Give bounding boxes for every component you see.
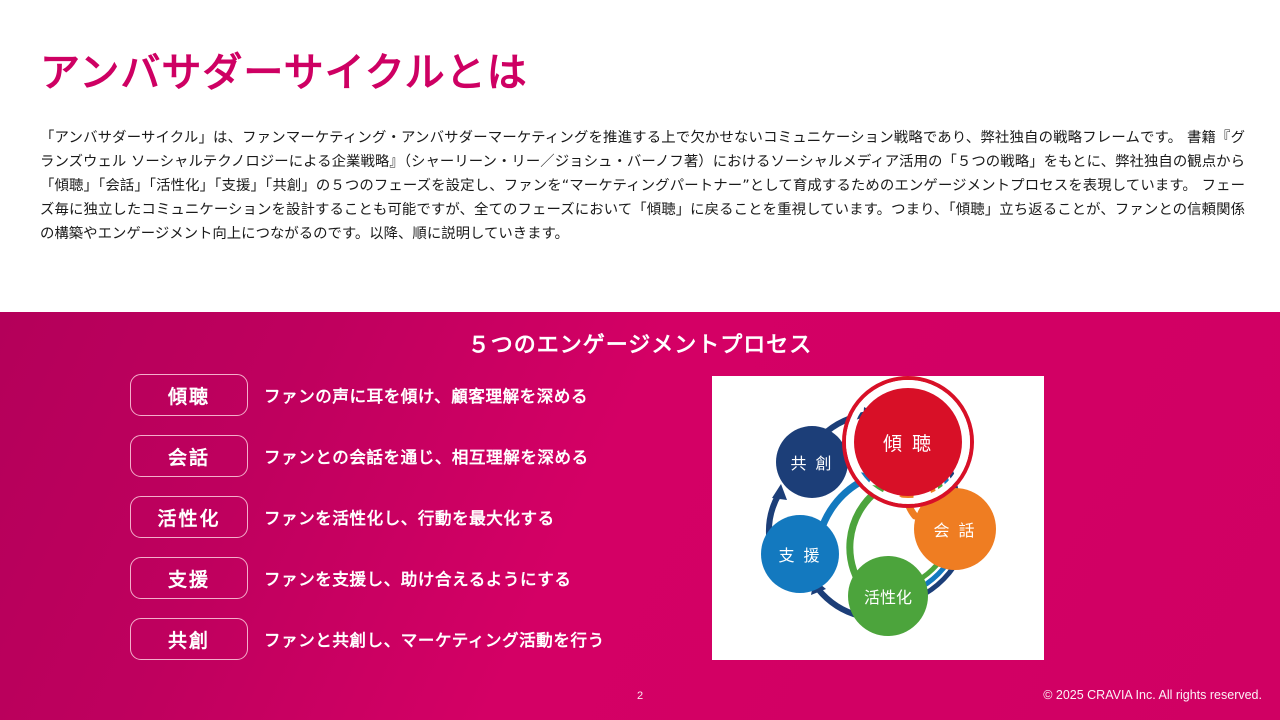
phase-chip-shien[interactable]: 支援 xyxy=(130,557,248,599)
cycle-node-shien: 支 援 xyxy=(761,515,839,593)
svg-text:会 話: 会 話 xyxy=(933,521,976,540)
phase-list: 傾聴 ファンの声に耳を傾け、顧客理解を深める 会話 ファンとの会話を通じ、相互理… xyxy=(130,374,690,679)
phase-description-shien: ファンを支援し、助け合えるようにする xyxy=(264,566,571,590)
svg-text:支 援: 支 援 xyxy=(778,546,821,565)
phase-chip-kyoso[interactable]: 共創 xyxy=(130,618,248,660)
engagement-panel: ５つのエンゲージメントプロセス 傾聴 ファンの声に耳を傾け、顧客理解を深める 会… xyxy=(0,312,1280,720)
svg-text:傾 聴: 傾 聴 xyxy=(883,433,933,455)
phase-chip-kasseika[interactable]: 活性化 xyxy=(130,496,248,538)
list-item[interactable]: 支援 ファンを支援し、助け合えるようにする xyxy=(130,557,690,618)
page-title: アンバサダーサイクルとは xyxy=(40,50,528,96)
phase-chip-keicho[interactable]: 傾聴 xyxy=(130,374,248,416)
svg-text:共 創: 共 創 xyxy=(790,454,833,473)
slide-root: アンバサダーサイクルとは 「アンバサダーサイクル」は、ファンマーケティング・アン… xyxy=(0,0,1280,720)
cycle-node-kasseika: 活性化 xyxy=(848,556,928,636)
cycle-node-keicho: 傾 聴 xyxy=(844,378,972,506)
phase-description-kaiwa: ファンとの会話を通じ、相互理解を深める xyxy=(264,444,589,468)
body-paragraph-text: 「アンバサダーサイクル」は、ファンマーケティング・アンバサダーマーケティングを推… xyxy=(40,126,1245,246)
list-item[interactable]: 共創 ファンと共創し、マーケティング活動を行う xyxy=(130,618,690,679)
panel-heading: ５つのエンゲージメントプロセス xyxy=(0,327,1280,359)
svg-text:活性化: 活性化 xyxy=(864,588,912,607)
phase-description-keicho: ファンの声に耳を傾け、顧客理解を深める xyxy=(264,383,588,407)
phase-description-kyoso: ファンと共創し、マーケティング活動を行う xyxy=(264,627,605,651)
phase-description-kasseika: ファンを活性化し、行動を最大化する xyxy=(264,505,555,529)
cycle-node-kyoso: 共 創 xyxy=(776,426,848,498)
ambassador-cycle-diagram: 共 創 支 援 活性化 会 話 xyxy=(712,376,1044,660)
list-item[interactable]: 傾聴 ファンの声に耳を傾け、顧客理解を深める xyxy=(130,374,690,435)
phase-chip-kaiwa[interactable]: 会話 xyxy=(130,435,248,477)
body-paragraph: 「アンバサダーサイクル」は、ファンマーケティング・アンバサダーマーケティングを推… xyxy=(40,126,1245,246)
list-item[interactable]: 会話 ファンとの会話を通じ、相互理解を深める xyxy=(130,435,690,496)
list-item[interactable]: 活性化 ファンを活性化し、行動を最大化する xyxy=(130,496,690,557)
copyright-notice: © 2025 CRAVIA Inc. All rights reserved. xyxy=(1043,688,1262,702)
